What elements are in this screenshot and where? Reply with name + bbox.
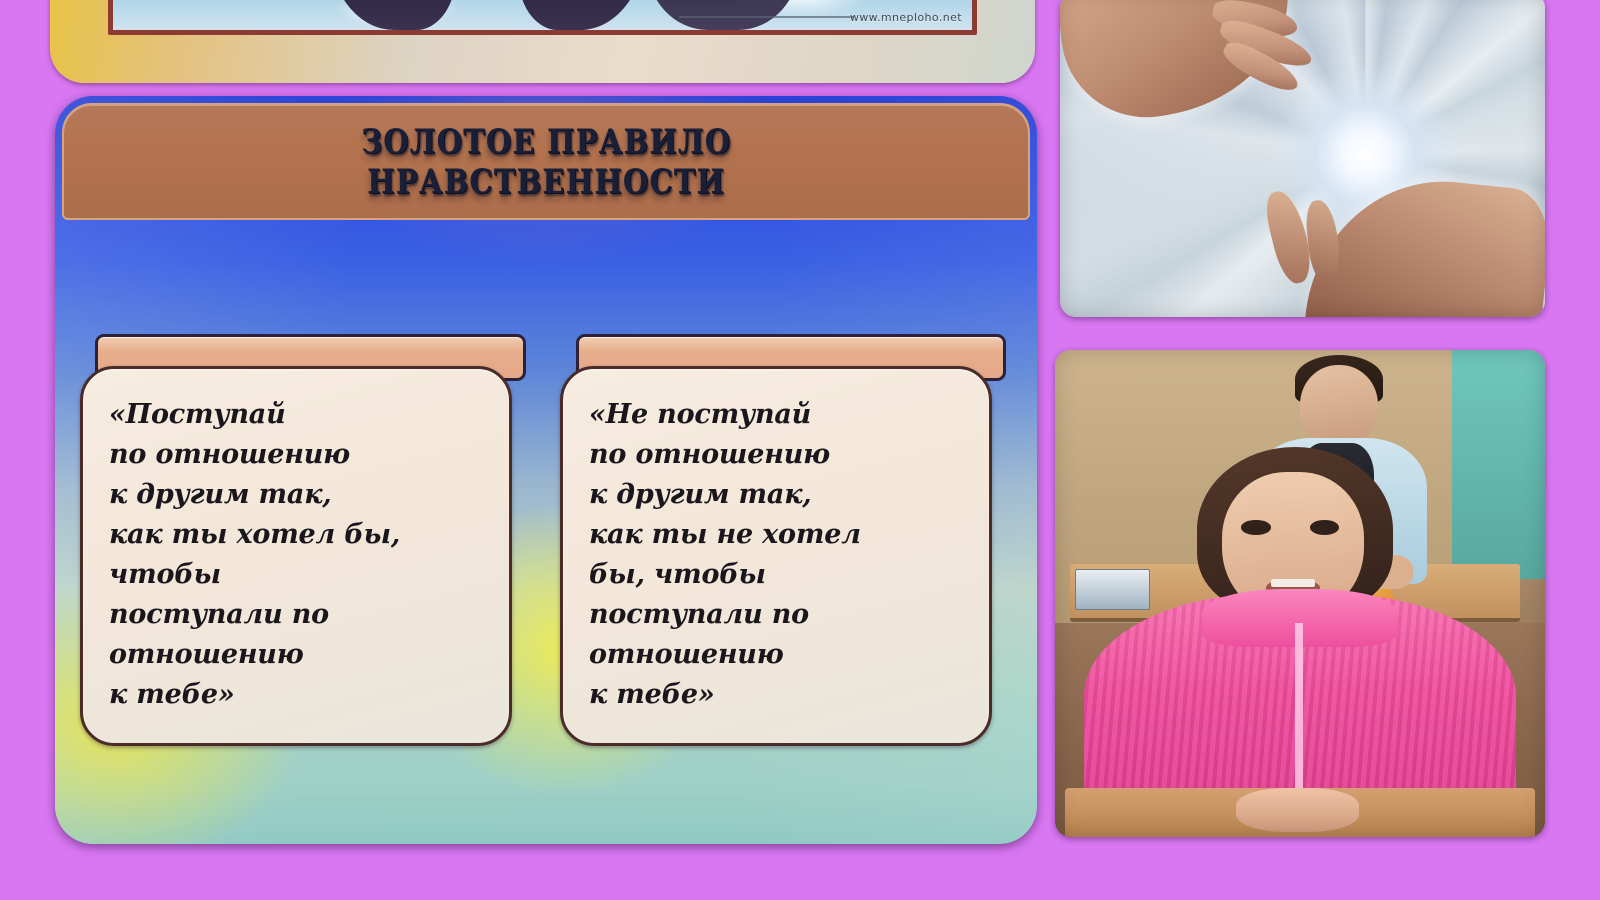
quote-line: к тебе» [589, 675, 969, 715]
golden-rule-poster: ЗОЛОТОЕ ПРАВИЛО НРАВСТВЕННОСТИ «Поступай… [55, 96, 1037, 844]
watermark-text: www.mneploho.net [850, 11, 962, 24]
poster-title-line-1: ЗОЛОТОЕ ПРАВИЛО [361, 122, 731, 162]
quote-line: поступали по [589, 595, 969, 635]
sweater-zipper [1295, 623, 1303, 798]
boy-head [1300, 365, 1378, 448]
girl-eye-left [1241, 520, 1270, 535]
quote-line: отношению [109, 635, 489, 675]
quote-line: по отношению [589, 435, 969, 475]
sky-photo-frame: www.mneploho.net [108, 0, 977, 35]
quote-line: к тебе» [109, 675, 489, 715]
quote-line: чтобы [109, 555, 489, 595]
poster-title-line-2: НРАВСТВЕННОСТИ [367, 162, 725, 202]
sky-silhouette-photo-panel: www.mneploho.net [50, 0, 1035, 83]
girl-hands [1236, 788, 1359, 832]
quote-line: «Не поступай [589, 395, 969, 435]
hands-reaching-light-photo [1060, 0, 1545, 317]
slide-canvas: www.mneploho.net ЗОЛОТОЕ ПРАВИЛО НРАВСТВ… [0, 0, 1600, 900]
book-stack [1075, 569, 1151, 610]
quote-line: отношению [589, 635, 969, 675]
watermark-rule [679, 16, 854, 18]
quote-line: поступали по [109, 595, 489, 635]
quote-card-positive: «Поступай по отношению к другим так, как… [80, 366, 512, 746]
quote-line: к другим так, [589, 475, 969, 515]
quote-line: как ты не хотел [589, 515, 969, 555]
quote-line: как ты хотел бы, [109, 515, 489, 555]
girl-eye-right [1310, 520, 1339, 535]
girl-teeth [1271, 579, 1315, 587]
quote-line: по отношению [109, 435, 489, 475]
wall-panel [1452, 350, 1545, 579]
quote-line: бы, чтобы [589, 555, 969, 595]
poster-title-bar: ЗОЛОТОЕ ПРАВИЛО НРАВСТВЕННОСТИ [62, 103, 1030, 220]
quote-card-negative: «Не поступай по отношению к другим так, … [560, 366, 992, 746]
quote-line: к другим так, [109, 475, 489, 515]
quote-line: «Поступай [109, 395, 489, 435]
classroom-students-photo [1055, 350, 1545, 837]
